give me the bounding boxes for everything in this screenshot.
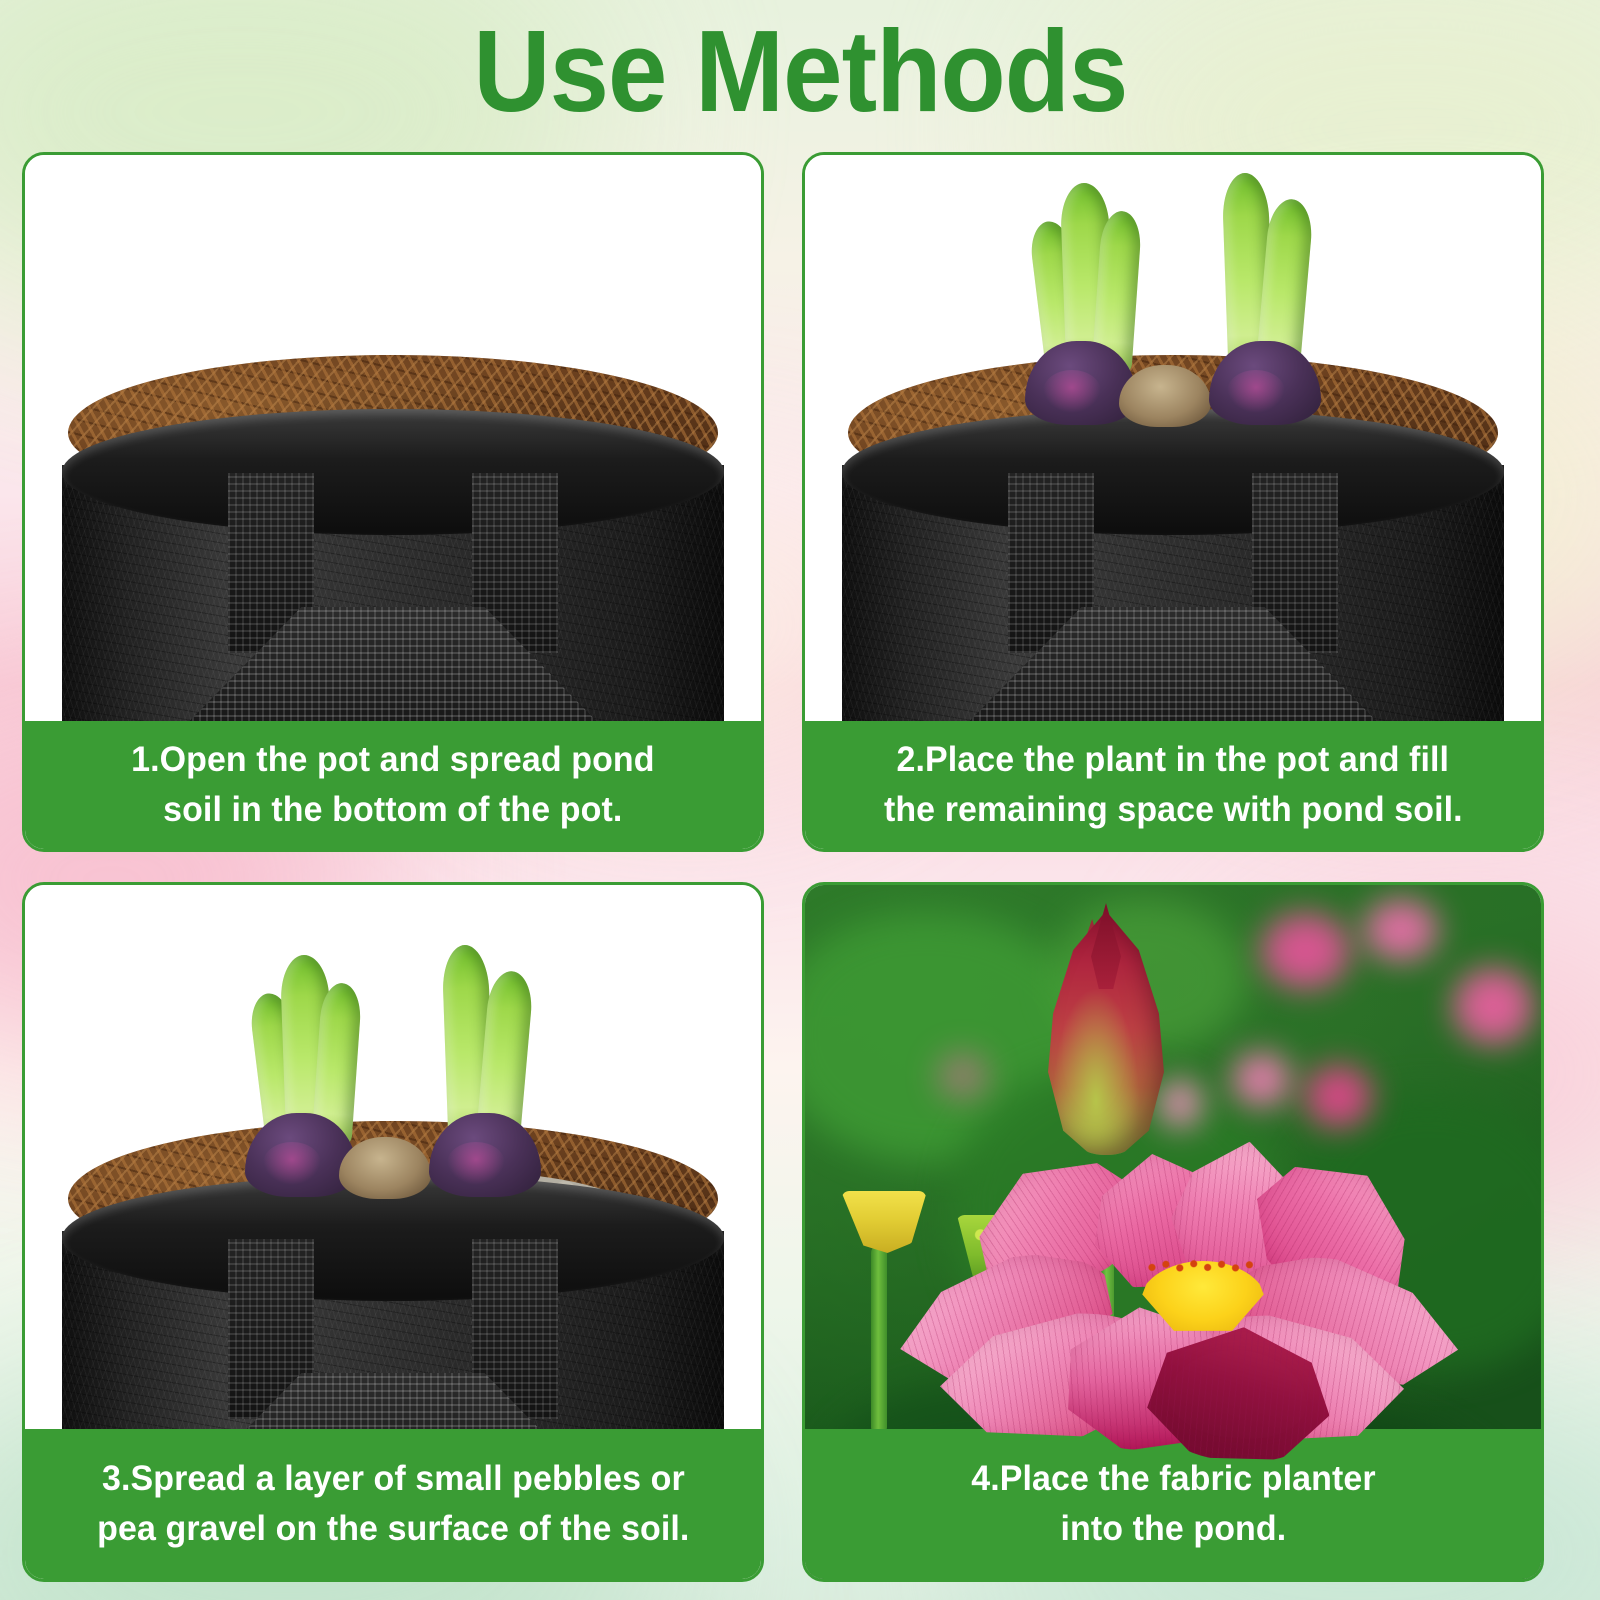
step-1-caption: 1.Open the pot and spread pond soil in t… — [25, 721, 761, 849]
lotus-bulb-root — [339, 1137, 431, 1199]
lotus-bulb-sprouts — [1023, 165, 1323, 425]
step-3-caption-line-1: 3.Spread a layer of small pebbles or — [102, 1454, 685, 1504]
background-lotus-bokeh — [1261, 913, 1349, 989]
step-2-caption-line-2: the remaining space with pond soil. — [884, 785, 1463, 835]
background-lotus-bokeh — [1232, 1052, 1291, 1108]
background-lotus-bokeh — [1453, 968, 1534, 1044]
lotus-flower — [873, 1157, 1473, 1457]
step-1-caption-line-1: 1.Open the pot and spread pond — [131, 735, 655, 785]
steps-grid: 1.Open the pot and spread pond soil in t… — [22, 152, 1578, 1582]
step-2-caption-line-1: 2.Place the plant in the pot and fill — [897, 735, 1450, 785]
page-title-container: Use Methods — [0, 6, 1600, 136]
step-card-2: 2.Place the plant in the pot and fill th… — [802, 152, 1544, 852]
lotus-bulb — [1209, 341, 1321, 425]
background-lotus-bokeh — [937, 1052, 989, 1101]
step-3-caption: 3.Spread a layer of small pebbles or pea… — [25, 1429, 761, 1579]
step-2-caption: 2.Place the plant in the pot and fill th… — [805, 721, 1541, 849]
background-lotus-bokeh — [1305, 1065, 1371, 1127]
step-card-4: 4.Place the fabric planter into the pond… — [802, 882, 1544, 1582]
step-card-3: 3.Spread a layer of small pebbles or pea… — [22, 882, 764, 1582]
lotus-bulb-root — [1119, 365, 1211, 427]
step-card-1: 1.Open the pot and spread pond soil in t… — [22, 152, 764, 852]
step-4-caption-line-1: 4.Place the fabric planter — [971, 1454, 1375, 1504]
lotus-stamens — [1145, 1257, 1261, 1283]
lotus-bulb — [429, 1113, 541, 1197]
background-lotus-bokeh — [1364, 899, 1438, 961]
page-title: Use Methods — [473, 13, 1127, 129]
step-3-caption-line-2: pea gravel on the surface of the soil. — [97, 1504, 689, 1554]
lotus-bulb-sprouts — [243, 937, 543, 1197]
step-4-caption-line-2: into the pond. — [1060, 1504, 1286, 1554]
background-lotus-bokeh — [1158, 1079, 1202, 1128]
step-1-caption-line-2: soil in the bottom of the pot. — [163, 785, 622, 835]
